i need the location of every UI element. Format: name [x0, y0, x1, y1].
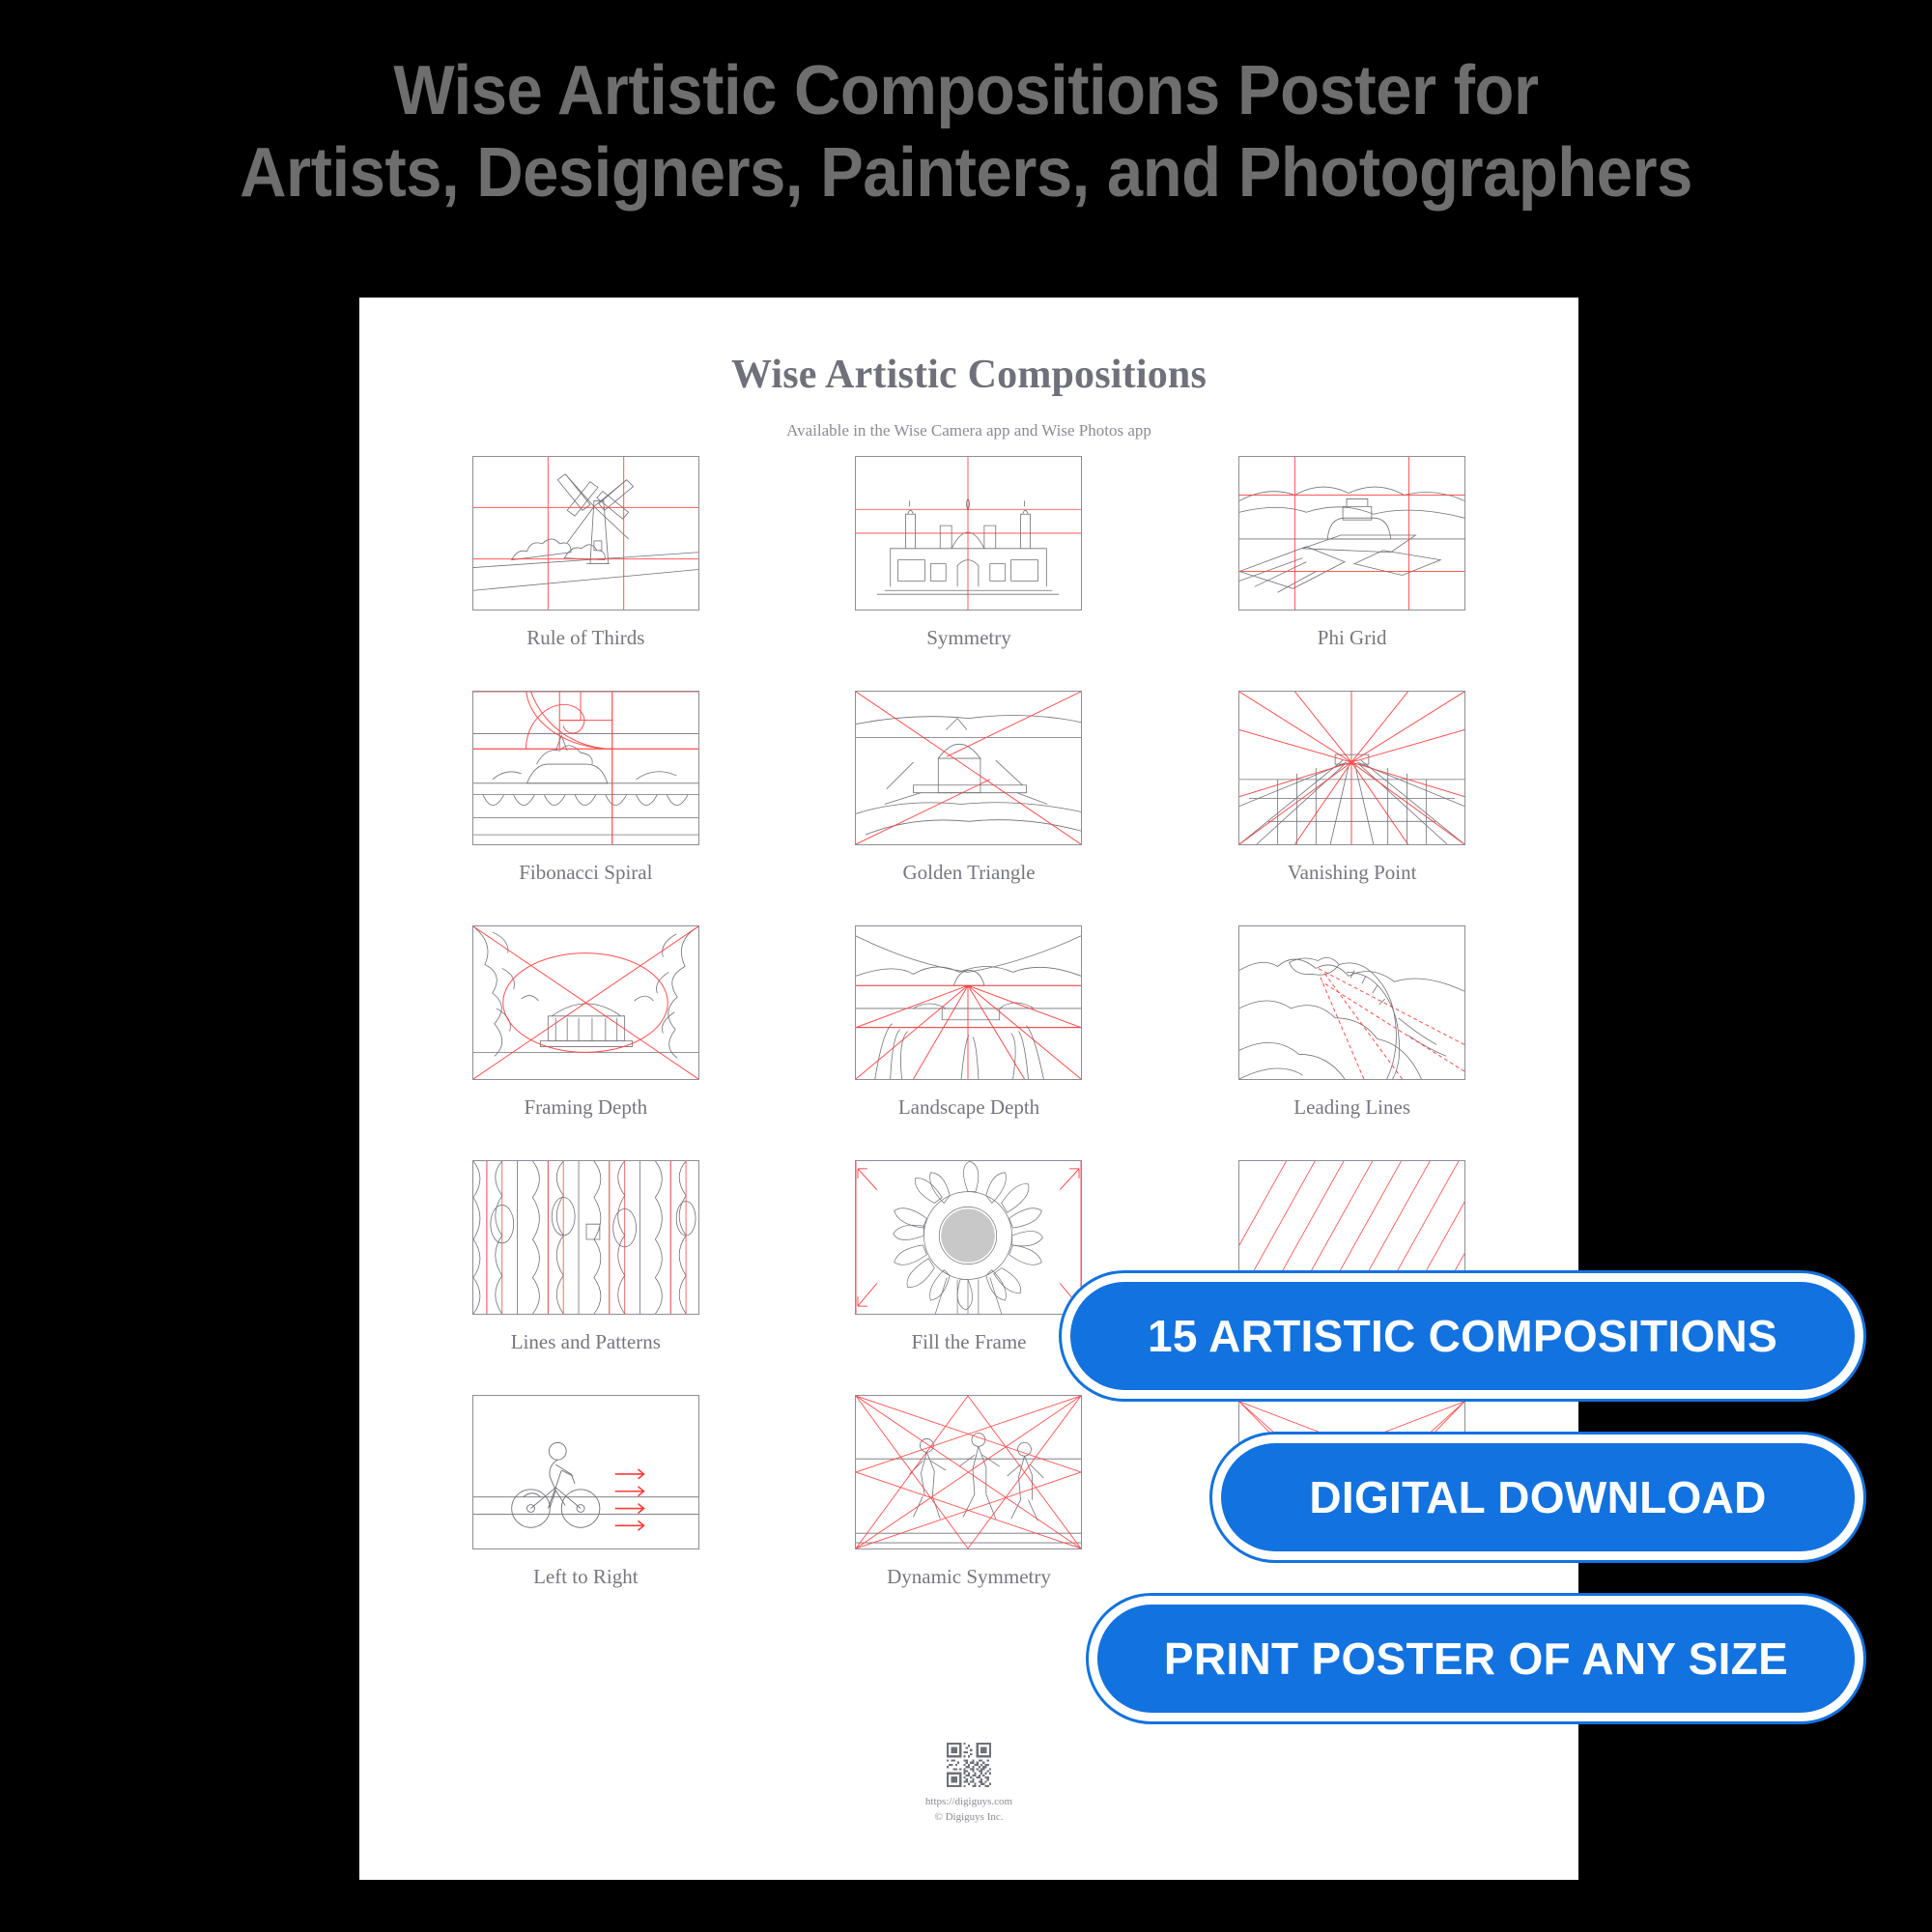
composition-cell: Framing Depth: [394, 925, 778, 1120]
composition-cell: Lines and Patterns: [394, 1160, 778, 1354]
qr-code-icon: [947, 1743, 991, 1787]
composition-grid: Rule of Thirds: [359, 456, 1578, 1589]
composition-caption: Phi Grid: [1318, 626, 1387, 650]
composition-caption: Leading Lines: [1293, 1095, 1410, 1120]
thumb-rule-of-thirds: [472, 456, 699, 611]
thumb-vanishing-point: [1238, 691, 1465, 845]
composition-cell: Golden Triangle: [778, 691, 1161, 885]
composition-cell: Landscape Depth: [778, 925, 1161, 1120]
composition-caption: Dynamic Symmetry: [887, 1565, 1051, 1589]
composition-cell: Dynamic Symmetry: [778, 1395, 1161, 1589]
composition-cell: Left to Right: [394, 1395, 778, 1589]
poster-title: Wise Artistic Compositions: [359, 352, 1578, 398]
thumb-fibonacci-spiral: [472, 691, 699, 845]
composition-caption: Left to Right: [533, 1565, 639, 1589]
thumb-dynamic-symmetry: [855, 1395, 1082, 1549]
promo-canvas: Wise Artistic Compositions Poster for Ar…: [0, 0, 1932, 1932]
thumb-leading-lines: [1238, 925, 1465, 1080]
composition-caption: Golden Triangle: [902, 861, 1035, 885]
promo-headline-line-1: Wise Artistic Compositions Poster for: [393, 52, 1538, 129]
badge-digital-download: DIGITAL DOWNLOAD: [1221, 1443, 1855, 1551]
promo-headline-line-2: Artists, Designers, Painters, and Photog…: [68, 132, 1864, 214]
composition-caption: Fill the Frame: [911, 1330, 1026, 1354]
composition-caption: Symmetry: [926, 626, 1011, 650]
composition-cell: Fibonacci Spiral: [394, 691, 778, 885]
thumb-landscape-depth: [855, 925, 1082, 1080]
thumb-framing-depth: [472, 925, 699, 1080]
thumb-left-to-right: [472, 1395, 699, 1549]
thumb-golden-triangle: [855, 691, 1082, 845]
composition-caption: Fibonacci Spiral: [519, 861, 652, 885]
composition-caption: Rule of Thirds: [526, 626, 644, 650]
composition-caption: Framing Depth: [524, 1095, 647, 1120]
promo-headline: Wise Artistic Compositions Poster for Ar…: [68, 50, 1864, 214]
poster-footer: https://digiguys.com © Digiguys Inc.: [359, 1743, 1578, 1826]
badge-print-any-size: PRINT POSTER OF ANY SIZE: [1097, 1605, 1855, 1713]
thumb-fill-the-frame: [855, 1160, 1082, 1315]
composition-caption: Landscape Depth: [898, 1095, 1039, 1120]
composition-cell: Leading Lines: [1160, 925, 1544, 1120]
composition-cell: Phi Grid: [1160, 456, 1544, 650]
composition-cell: Rule of Thirds: [394, 456, 778, 650]
composition-cell: Vanishing Point: [1160, 691, 1544, 885]
composition-cell: Symmetry: [778, 456, 1161, 650]
footer-copyright: © Digiguys Inc.: [359, 1810, 1578, 1826]
badge-compositions-count: 15 ARTISTIC COMPOSITIONS: [1070, 1282, 1855, 1390]
composition-caption: Vanishing Point: [1288, 861, 1417, 885]
poster-subtitle: Available in the Wise Camera app and Wis…: [359, 421, 1578, 440]
footer-url[interactable]: https://digiguys.com: [359, 1795, 1578, 1810]
thumb-symmetry: [855, 456, 1082, 611]
thumb-phi-grid: [1238, 456, 1465, 611]
poster-header: Wise Artistic Compositions Available in …: [359, 298, 1578, 440]
composition-caption: Lines and Patterns: [511, 1330, 661, 1354]
thumb-lines-and-patterns: [472, 1160, 699, 1315]
